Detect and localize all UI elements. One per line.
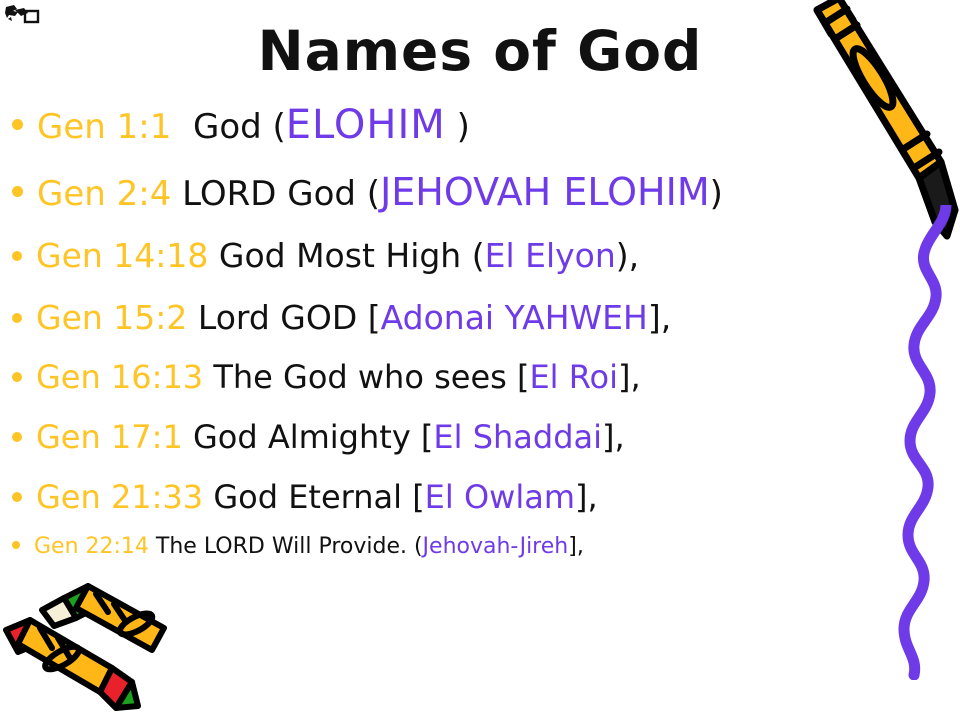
scripture-reference: Gen 1:1: [37, 107, 171, 147]
bullet-dot-icon: [12, 432, 22, 442]
divine-name: Adonai YAHWEH: [381, 298, 648, 337]
slide-canvas: Names of God Gen 1:1 God (ELOHIM ) Gen 2…: [0, 0, 960, 720]
bullet-dot-icon: [12, 186, 23, 197]
list-item: Gen 1:1 God (ELOHIM ): [0, 102, 900, 170]
bullet-text: Gen 22:14 The LORD Will Provide. (Jehova…: [34, 534, 584, 559]
bullet-dot-icon: [12, 313, 22, 323]
text-before: The God who sees [: [213, 358, 529, 396]
bullet-dot-icon: [12, 251, 22, 261]
text-before: God Most High (: [219, 236, 485, 275]
slide-title: Names of God: [0, 20, 960, 82]
scripture-reference: Gen 17:1: [36, 418, 183, 456]
bullet-text: Gen 16:13 The God who sees [El Roi],: [36, 358, 641, 396]
bullet-dot-icon: [12, 119, 23, 130]
text-after: ],: [602, 418, 625, 456]
list-item: Gen 16:13 The God who sees [El Roi],: [0, 358, 900, 418]
scripture-reference: Gen 22:14: [34, 534, 149, 559]
list-item: Gen 2:4 LORD God (JEHOVAH ELOHIM): [0, 170, 900, 236]
text-after: ],: [568, 534, 584, 559]
bullet-text: Gen 14:18 God Most High (El Elyon),: [36, 236, 639, 275]
bullet-dot-icon: [12, 372, 22, 382]
text-before: God Eternal [: [213, 478, 424, 516]
scripture-reference: Gen 16:13: [36, 358, 203, 396]
divine-name: Jehovah-Jireh: [423, 534, 569, 559]
text-after: ): [446, 107, 470, 147]
scripture-reference: Gen 15:2: [36, 298, 187, 337]
text-after: ],: [648, 298, 671, 337]
crossed-crayons-icon: [0, 572, 196, 720]
bullet-text: Gen 1:1 God (ELOHIM ): [37, 102, 470, 148]
bullet-text: Gen 15:2 Lord GOD [Adonai YAHWEH],: [36, 298, 671, 337]
list-item: Gen 17:1 God Almighty [El Shaddai],: [0, 418, 900, 478]
scripture-reference: Gen 14:18: [36, 236, 208, 275]
bullet-dot-icon: [12, 492, 22, 502]
divine-name: El Elyon: [485, 236, 616, 275]
text-before: Lord GOD [: [198, 298, 381, 337]
text-after: ],: [618, 358, 641, 396]
bullet-text: Gen 21:33 God Eternal [El Owlam],: [36, 478, 598, 516]
bullet-text: Gen 2:4 LORD God (JEHOVAH ELOHIM): [37, 170, 723, 214]
list-item: Gen 14:18 God Most High (El Elyon),: [0, 236, 900, 298]
scripture-reference: Gen 2:4: [37, 174, 171, 214]
text-before: God (: [193, 107, 286, 147]
text-before: LORD God (: [182, 174, 380, 214]
text-before: God Almighty [: [193, 418, 433, 456]
text-after: ],: [575, 478, 598, 516]
divine-name: ELOHIM: [286, 102, 446, 148]
divine-name: JEHOVAH ELOHIM: [380, 170, 710, 214]
divine-name: El Roi: [529, 358, 618, 396]
list-item: Gen 21:33 God Eternal [El Owlam],: [0, 478, 900, 534]
text-before: The LORD Will Provide. (: [156, 534, 423, 559]
text-after: ): [710, 174, 723, 214]
bullet-text: Gen 17:1 God Almighty [El Shaddai],: [36, 418, 625, 456]
divine-name: El Owlam: [425, 478, 575, 516]
scripture-reference: Gen 21:33: [36, 478, 203, 516]
bullet-list: Gen 1:1 God (ELOHIM ) Gen 2:4 LORD God (…: [0, 102, 900, 580]
divine-name: El Shaddai: [433, 418, 602, 456]
bullet-dot-icon: [12, 541, 20, 549]
list-item: Gen 15:2 Lord GOD [Adonai YAHWEH],: [0, 298, 900, 358]
text-after: ),: [616, 236, 639, 275]
list-item: Gen 22:14 The LORD Will Provide. (Jehova…: [0, 534, 900, 580]
